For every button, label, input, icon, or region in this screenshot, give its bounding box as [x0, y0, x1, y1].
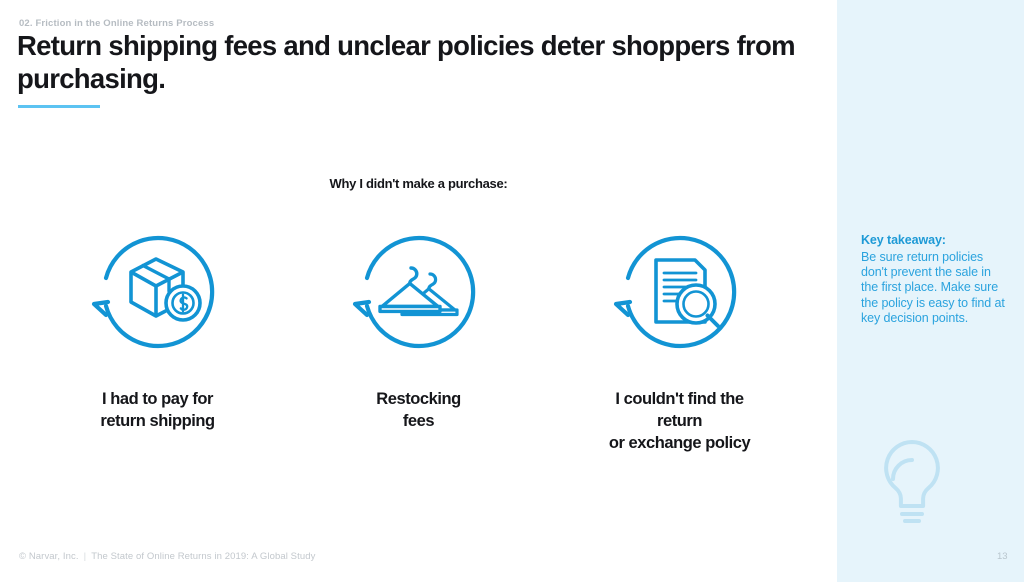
package-with-dollar-return-icon: [84, 218, 232, 366]
lightbulb-icon: [860, 432, 964, 536]
key-takeaway-title: Key takeaway:: [861, 233, 1011, 247]
key-takeaway-block: Key takeaway: Be sure return policies do…: [861, 233, 1011, 326]
document-magnifier-return-icon: [606, 218, 754, 366]
title-accent-rule: [18, 105, 100, 108]
reason-card-label: I couldn't find the return or exchange p…: [606, 388, 754, 454]
reason-card: I couldn't find the return or exchange p…: [606, 218, 754, 454]
reason-card-label: Restocking fees: [376, 388, 460, 432]
footer-document-title: The State of Online Returns in 2019: A G…: [91, 551, 315, 562]
reason-card: I had to pay for return shipping: [84, 218, 232, 454]
footer-separator: |: [79, 551, 92, 562]
slide: 02. Friction in the Online Returns Proce…: [0, 0, 1024, 582]
key-takeaway-sidebar: Key takeaway: Be sure return policies do…: [837, 0, 1024, 582]
page-number: 13: [997, 551, 1008, 562]
reason-card-list: I had to pay for return shipping: [0, 218, 837, 454]
page-title: Return shipping fees and unclear policie…: [17, 29, 817, 95]
key-takeaway-body: Be sure return policies don't prevent th…: [861, 250, 1011, 326]
section-eyebrow: 02. Friction in the Online Returns Proce…: [19, 18, 214, 29]
footer: © Narvar, Inc.|The State of Online Retur…: [19, 551, 315, 562]
clothes-hangers-return-icon: [345, 218, 493, 366]
reason-card-label: I had to pay for return shipping: [100, 388, 214, 432]
section-label: Why I didn't make a purchase:: [0, 176, 837, 191]
footer-copyright: © Narvar, Inc.: [19, 551, 79, 562]
reason-card: Restocking fees: [345, 218, 493, 454]
